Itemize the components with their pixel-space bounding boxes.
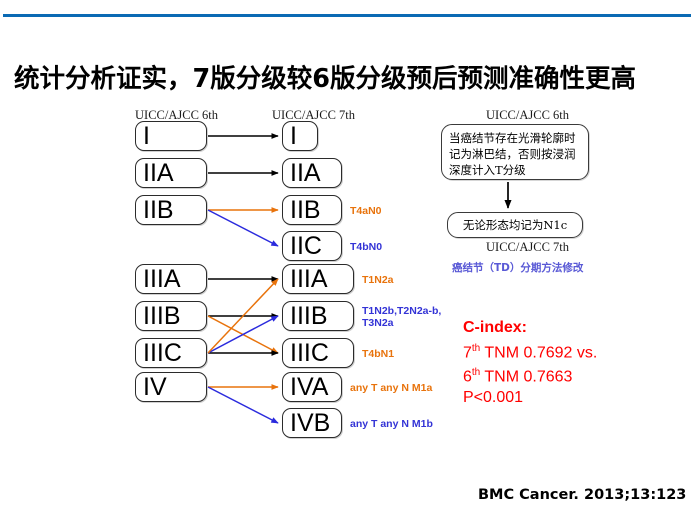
c-index-line-6th: 6th TNM 0.7663	[463, 363, 597, 388]
stage-label: I	[290, 124, 297, 149]
stage-label: IIA	[143, 161, 174, 186]
stage-label: IVA	[290, 375, 328, 400]
stage-box-7th-iiib: IIIB	[282, 301, 354, 331]
stage-box-7th-iib: IIB	[282, 195, 342, 225]
stage-label: IIB	[290, 198, 321, 223]
stage-label: IIIC	[143, 341, 182, 366]
stage-box-7th-iia: IIA	[282, 158, 342, 188]
td-flow-box-6th-rule: 当癌结节存在光滑轮廓时记为淋巴结，否则按浸润深度计入T分级	[441, 124, 589, 180]
c-index-6th-num: 6	[463, 369, 472, 386]
stage-note-ivb: any T any N M1b	[350, 418, 433, 430]
stage-box-7th-ivb: IVB	[282, 408, 342, 438]
stage-box-7th-iva: IVA	[282, 372, 342, 402]
stage-box-6th-iia: IIA	[135, 158, 207, 188]
stage-box-6th-iv: IV	[135, 372, 207, 402]
stage-note-iic: T4bN0	[350, 241, 382, 253]
c-index-block: C-index: 7th TNM 0.7692 vs. 6th TNM 0.76…	[463, 318, 597, 409]
stage-label: IVB	[290, 411, 330, 436]
stage-box-6th-i: I	[135, 121, 207, 151]
arrow-iib-to-iic	[208, 210, 278, 246]
stage-label: IIIC	[290, 341, 329, 366]
c-index-7th-sup: th	[472, 343, 480, 354]
stage-box-7th-iiic: IIIC	[282, 338, 354, 368]
stage-label: IV	[143, 375, 167, 400]
stage-note-iiic: T4bN1	[362, 348, 394, 360]
stage-label: IIIA	[143, 267, 181, 292]
stage-box-6th-iiib: IIIB	[135, 301, 207, 331]
stage-label: IIA	[290, 161, 321, 186]
td-flow-header-6th: UICC/AJCC 6th	[486, 108, 569, 123]
stage-label: IIC	[290, 234, 322, 259]
stage-label: I	[143, 124, 150, 149]
arrow-iiic-to-iiia	[208, 279, 278, 353]
arrow-iiib-to-iiic	[208, 316, 278, 353]
citation-footer: BMC Cancer. 2013;13:123	[478, 487, 686, 503]
c-index-6th-sup: th	[472, 367, 480, 378]
td-flow-header-7th: UICC/AJCC 7th	[486, 240, 569, 255]
stage-note-iib: T4aN0	[350, 205, 382, 217]
stage-box-7th-i: I	[282, 121, 318, 151]
stage-note-iiia: T1N2a	[362, 274, 394, 286]
stage-box-6th-iiic: IIIC	[135, 338, 207, 368]
slide-canvas: 统计分析证实，7版分级较6版分级预后预测准确性更高 UICC/AJCC 6th …	[0, 0, 694, 520]
td-flow-note: 癌结节（TD）分期方法修改	[452, 260, 583, 275]
c-index-heading: C-index:	[463, 318, 597, 339]
arrow-iv-to-ivb	[208, 387, 278, 423]
stage-label: IIIA	[290, 267, 328, 292]
slide-title: 统计分析证实，7版分级较6版分级预后预测准确性更高	[14, 62, 680, 96]
stage-label: IIB	[143, 198, 174, 223]
stage-box-6th-iib: IIB	[135, 195, 207, 225]
stage-label: IIIB	[143, 304, 181, 329]
c-index-line-7th: 7th TNM 0.7692 vs.	[463, 339, 597, 364]
c-index-6th-value: TNM 0.7663	[480, 369, 572, 386]
stage-label: IIIB	[290, 304, 328, 329]
c-index-pvalue: P<0.001	[463, 388, 597, 409]
c-index-7th-num: 7	[463, 344, 472, 361]
stage-note-iiib: T1N2b,T2N2a-b, T3N2a	[362, 305, 441, 329]
c-index-7th-value: TNM 0.7692 vs.	[480, 344, 597, 361]
td-flow-box-7th-rule: 无论形态均记为N1c	[447, 212, 583, 238]
column-header-7th: UICC/AJCC 7th	[272, 108, 355, 123]
stage-box-7th-iiia: IIIA	[282, 264, 354, 294]
arrow-iiic-to-iiib	[208, 316, 278, 353]
stage-box-7th-iic: IIC	[282, 231, 342, 261]
stage-box-6th-iiia: IIIA	[135, 264, 207, 294]
header-divider-rule	[3, 14, 691, 17]
stage-note-iva: any T any N M1a	[350, 382, 432, 394]
